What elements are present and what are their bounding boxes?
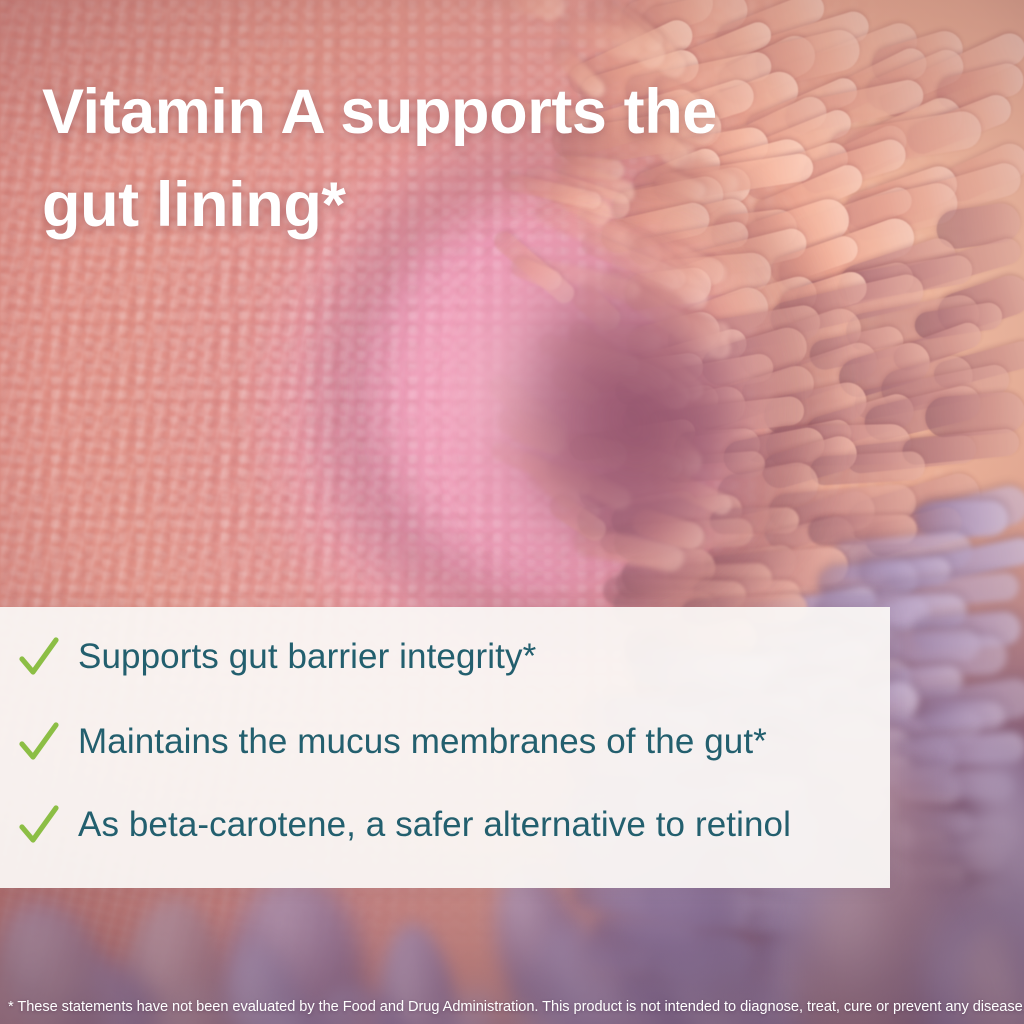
benefit-label: Maintains the mucus membranes of the gut… (78, 722, 767, 762)
page-title: Vitamin A supports the gut lining* (42, 66, 782, 252)
check-icon (18, 635, 60, 679)
benefit-label: As beta-carotene, a safer alternative to… (78, 805, 791, 845)
benefit-label: Supports gut barrier integrity* (78, 637, 536, 677)
list-item: Maintains the mucus membranes of the gut… (18, 714, 767, 770)
check-icon (18, 720, 60, 764)
promo-graphic: Vitamin A supports the gut lining* Suppo… (0, 0, 1024, 1024)
fda-disclaimer: * These statements have not been evaluat… (8, 998, 1018, 1016)
check-icon (18, 803, 60, 847)
list-item: As beta-carotene, a safer alternative to… (18, 797, 791, 853)
list-item: Supports gut barrier integrity* (18, 629, 536, 685)
